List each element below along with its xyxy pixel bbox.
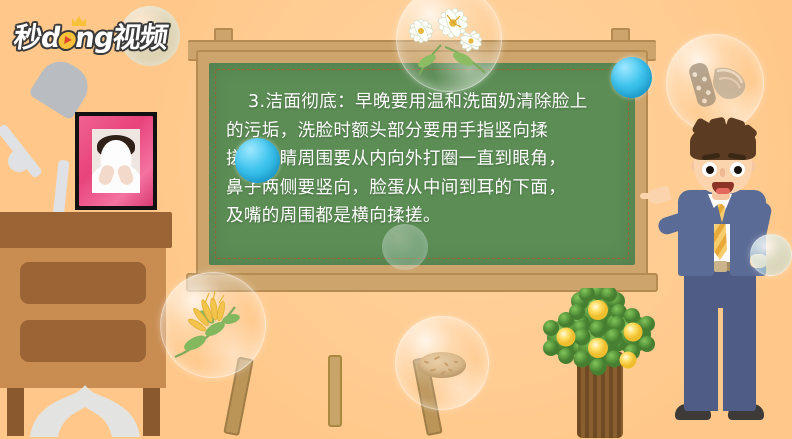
lamp-joint — [8, 150, 30, 172]
bubble-honeysuckle — [160, 272, 266, 378]
lesson-line-2: 的污垢，洗脸时额头部分要用手指竖向揉 — [226, 117, 618, 146]
logo-text-after: ng视频 — [73, 21, 170, 54]
pointing-finger-icon — [640, 193, 654, 199]
dresser-top — [0, 212, 172, 248]
bubble-powder — [395, 316, 489, 410]
easel-leg-center — [328, 355, 342, 427]
lesson-line-3: 搓，眼睛周围要从内向外打圈一直到眼角， — [226, 145, 618, 174]
plant-flower — [624, 323, 643, 342]
eye — [730, 162, 745, 177]
plant-flower — [588, 338, 608, 358]
dresser-drawer — [20, 262, 146, 304]
lesson-line-1: 3.洁面彻底：早晚要用温和洗面奶清除脸上 — [226, 88, 618, 117]
pupil — [706, 166, 714, 174]
dresser-drawer — [20, 320, 146, 362]
pale-bubble-decor — [382, 224, 428, 270]
dresser-leg — [7, 388, 24, 436]
presenter-businessman — [650, 118, 792, 439]
dresser-leg — [143, 388, 160, 436]
belt-buckle — [714, 261, 727, 272]
honeysuckle-illustration — [161, 273, 265, 377]
plant-flower — [557, 328, 576, 347]
frame-photo — [92, 129, 140, 193]
eye — [702, 162, 717, 177]
plant-flower — [588, 300, 608, 320]
tongue — [716, 188, 730, 194]
lily-illustration — [397, 0, 501, 91]
miaodong-video-logo: 秒dng视频 — [14, 18, 150, 58]
video-frame: 3.洁面彻底：早晚要用温和洗面奶清除脸上 的污垢，洗脸时额头部分要用手指竖向揉 … — [0, 0, 792, 439]
floor-swoosh-decor — [30, 385, 140, 437]
lesson-text: 3.洁面彻底：早晚要用温和洗面奶清除脸上 的污垢，洗脸时额头部分要用手指竖向揉 … — [226, 88, 618, 231]
logo-text-before: 秒d — [12, 21, 63, 54]
blue-bubble — [611, 57, 652, 98]
pink-picture-frame — [75, 112, 157, 210]
plant-flower — [620, 352, 637, 369]
lesson-line-4: 鼻子两侧要竖向，脸蛋从中间到耳的下面， — [226, 174, 618, 203]
pupil — [734, 166, 742, 174]
lesson-line-5: 及嘴的周围都是横向揉搓。 — [226, 202, 618, 231]
beauty-tools-illustration — [667, 35, 763, 131]
blue-bubble — [235, 138, 280, 183]
potted-plant — [540, 288, 660, 439]
bubble-near-face — [750, 234, 792, 276]
nose — [720, 168, 725, 177]
trouser-gap — [718, 308, 723, 412]
plant-foliage — [540, 288, 660, 398]
powder-grains — [396, 317, 488, 409]
frame-border — [79, 116, 153, 206]
logo-text: 秒dng视频 — [11, 18, 153, 58]
